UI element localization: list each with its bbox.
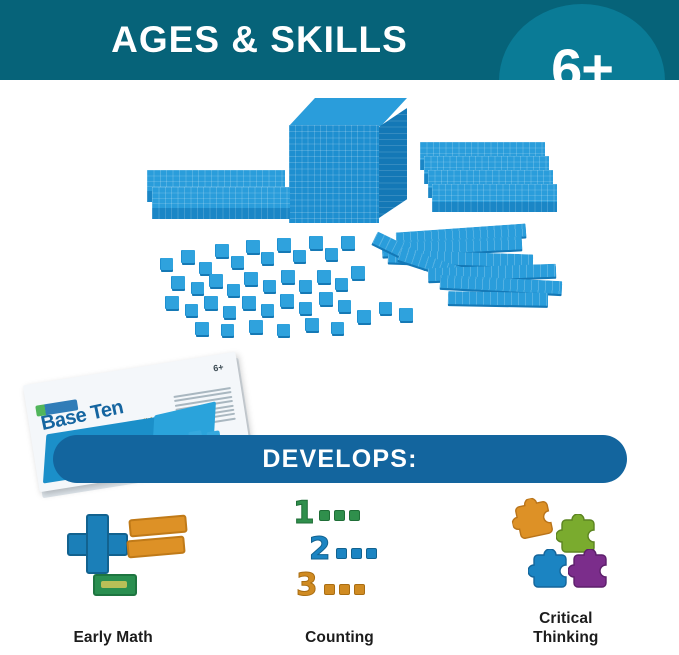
unit-cube xyxy=(339,300,351,312)
ten-rod xyxy=(448,291,548,306)
dots-row-three xyxy=(324,584,365,595)
minus-icon xyxy=(93,574,137,596)
unit-cube xyxy=(210,274,223,287)
skill-label: Early Math xyxy=(0,628,226,647)
unit-cube xyxy=(200,262,212,274)
hundred-flat xyxy=(432,184,557,212)
develops-banner: DEVELOPS: xyxy=(53,435,627,483)
unit-cube xyxy=(192,282,204,294)
unit-cube xyxy=(172,276,185,289)
unit-cube xyxy=(306,318,319,331)
skill-early-math: Early Math xyxy=(0,492,226,655)
hundred-flat xyxy=(152,187,290,219)
numeral-three: 3 xyxy=(296,570,318,601)
thousand-cube xyxy=(281,98,416,223)
unit-cube xyxy=(294,250,306,262)
unit-cube xyxy=(300,302,312,314)
unit-cube xyxy=(342,236,355,249)
unit-cube xyxy=(205,296,218,309)
unit-cube xyxy=(228,284,240,296)
unit-cube xyxy=(161,258,173,270)
unit-cube xyxy=(336,278,348,290)
numeral-two: 2 xyxy=(309,534,331,565)
unit-cube xyxy=(400,308,413,321)
skill-label-line1: Critical xyxy=(453,609,679,628)
unit-cube xyxy=(300,280,312,292)
skill-counting: 1 2 3 Counting xyxy=(226,492,452,655)
unit-cube xyxy=(250,320,263,333)
puzzle-piece-purple xyxy=(568,549,612,593)
unit-cube xyxy=(358,310,371,323)
unit-cube xyxy=(243,296,256,309)
unit-cube xyxy=(320,292,333,305)
unit-cube xyxy=(278,238,291,251)
plus-icon-vertical xyxy=(86,514,109,574)
unit-cube xyxy=(281,294,294,307)
ages-and-skills-panel: AGES & SKILLS 6+ years xyxy=(0,0,679,655)
puzzle-piece-orange xyxy=(508,494,560,546)
skill-critical-thinking: Critical Thinking xyxy=(453,492,679,655)
dots-row-two xyxy=(336,548,377,559)
unit-cube xyxy=(182,250,195,263)
unit-cube xyxy=(196,322,209,335)
numeral-one: 1 xyxy=(293,498,315,529)
unit-cube xyxy=(222,324,234,336)
develops-label: DEVELOPS: xyxy=(262,445,417,474)
unit-cube xyxy=(332,322,344,334)
unit-cube xyxy=(282,270,295,283)
unit-cube xyxy=(245,272,258,285)
unit-cube xyxy=(264,280,276,292)
skill-label: Counting xyxy=(226,628,452,647)
unit-cube xyxy=(352,266,365,279)
unit-cube xyxy=(224,306,236,318)
unit-cube xyxy=(186,304,198,316)
skill-label: Critical Thinking xyxy=(453,609,679,647)
unit-cube xyxy=(232,256,244,268)
equals-icon-top xyxy=(128,515,187,538)
unit-cube xyxy=(278,324,290,336)
math-symbols-icon xyxy=(26,492,201,604)
dots-row-one xyxy=(319,510,360,521)
booklet-age-badge: 6+ xyxy=(213,362,225,373)
unit-cube xyxy=(310,236,323,249)
puzzle-piece-blue xyxy=(528,549,572,593)
skill-label-line2: Thinking xyxy=(453,628,679,647)
puzzle-pieces-icon xyxy=(478,492,653,604)
equals-icon-bottom xyxy=(126,536,185,559)
unit-cube xyxy=(247,240,260,253)
unit-cube xyxy=(262,252,274,264)
unit-cube xyxy=(326,248,338,260)
unit-cube xyxy=(380,302,392,314)
unit-cube xyxy=(166,296,179,309)
product-photo: Base Ten Second Edition 6+ xyxy=(0,80,679,420)
unit-cube xyxy=(262,304,274,316)
numbers-123-icon: 1 2 3 xyxy=(252,492,427,604)
skills-row: Early Math 1 2 3 Counting xyxy=(0,492,679,655)
unit-cube xyxy=(216,244,229,257)
unit-cube xyxy=(318,270,331,283)
